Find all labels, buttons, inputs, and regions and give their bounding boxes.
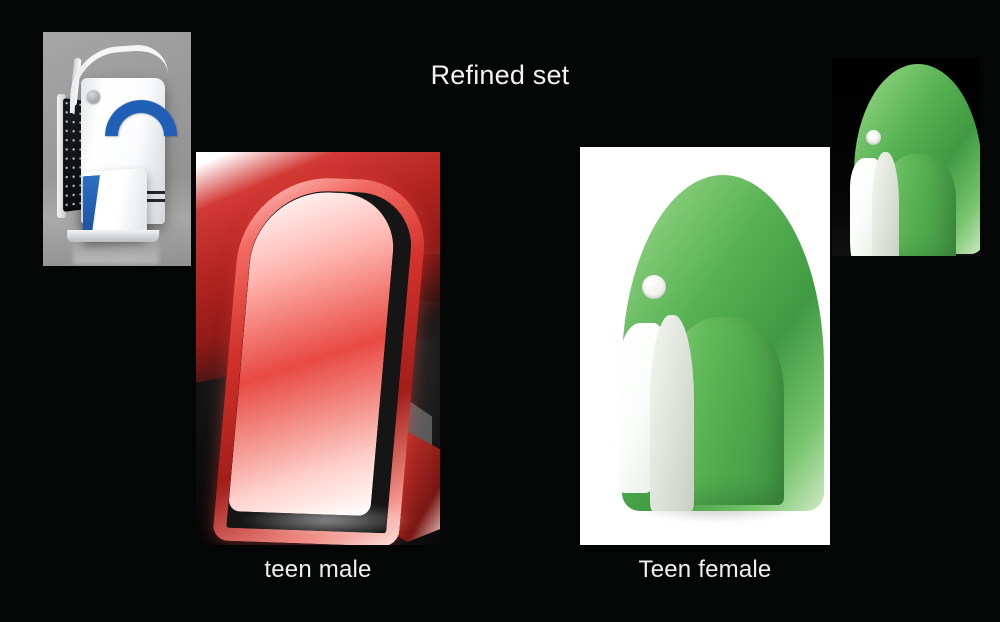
white-face-edge <box>650 315 694 511</box>
round-button-icon <box>642 275 666 299</box>
figure-white-blue-concept-thumbnail[interactable] <box>43 32 191 266</box>
bottom-glow <box>242 503 412 537</box>
caption-teen-male: teen male <box>196 556 440 584</box>
rainbow-arc-logo-icon <box>900 182 960 242</box>
caption-teen-female: Teen female <box>580 556 830 584</box>
round-button-icon <box>866 130 881 145</box>
figure-teen-female-render-small[interactable] <box>832 58 980 256</box>
round-button-icon <box>87 90 100 103</box>
handle <box>70 43 170 114</box>
figure-teen-male-render[interactable] <box>196 152 440 545</box>
white-face-edge <box>872 152 899 256</box>
floor-reflection <box>73 238 159 264</box>
figure-teen-female-render[interactable] <box>580 147 830 545</box>
rainbow-arc-logo-icon <box>694 365 792 463</box>
slide-canvas: Refined set teen male <box>0 0 1000 622</box>
